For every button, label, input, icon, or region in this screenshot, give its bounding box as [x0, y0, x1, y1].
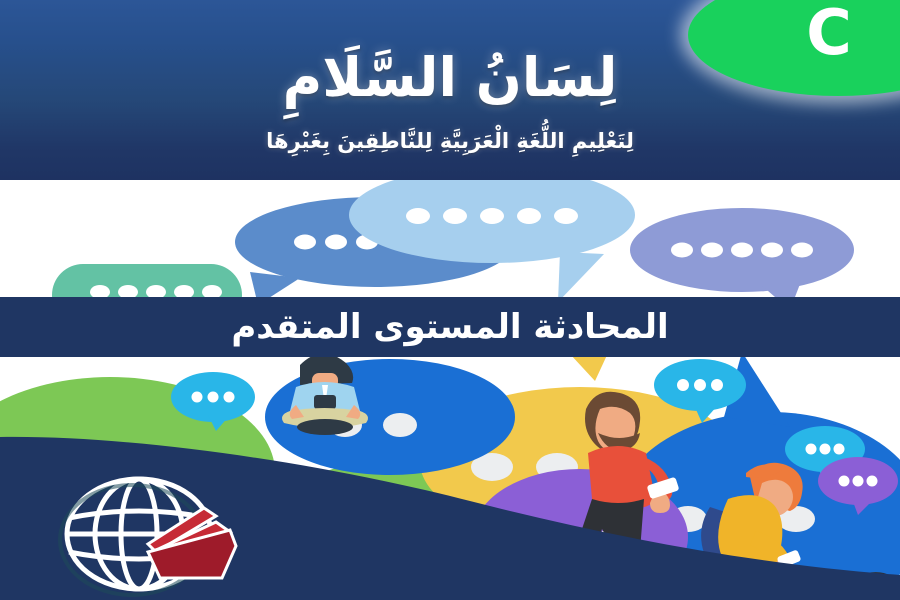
bubble-teal-icon [52, 264, 242, 298]
book-icon [148, 508, 236, 578]
page-subtitle: لِتَعْلِيمِ اللُّغَةِ الْعَرَبِيَّةِ لِل… [0, 126, 900, 156]
speech-bubbles-top-svg [0, 180, 900, 298]
level-banner-text: المحادثة المستوى المتقدم [0, 297, 900, 357]
bubble-periwinkle-icon [630, 208, 854, 298]
globe-and-book-logo-svg [44, 472, 294, 597]
globe-and-book-logo [44, 472, 294, 597]
course-cover-poster: C لِسَانُ السَّلَامِ لِتَعْلِيمِ اللُّغَ… [0, 0, 900, 600]
poster-header: C لِسَانُ السَّلَامِ لِتَعْلِيمِ اللُّغَ… [0, 0, 900, 180]
page-title: لِسَانُ السَّلَامِ [0, 44, 900, 112]
illustration-band-top [0, 180, 900, 298]
level-banner: المحادثة المستوى المتقدم [0, 297, 900, 357]
